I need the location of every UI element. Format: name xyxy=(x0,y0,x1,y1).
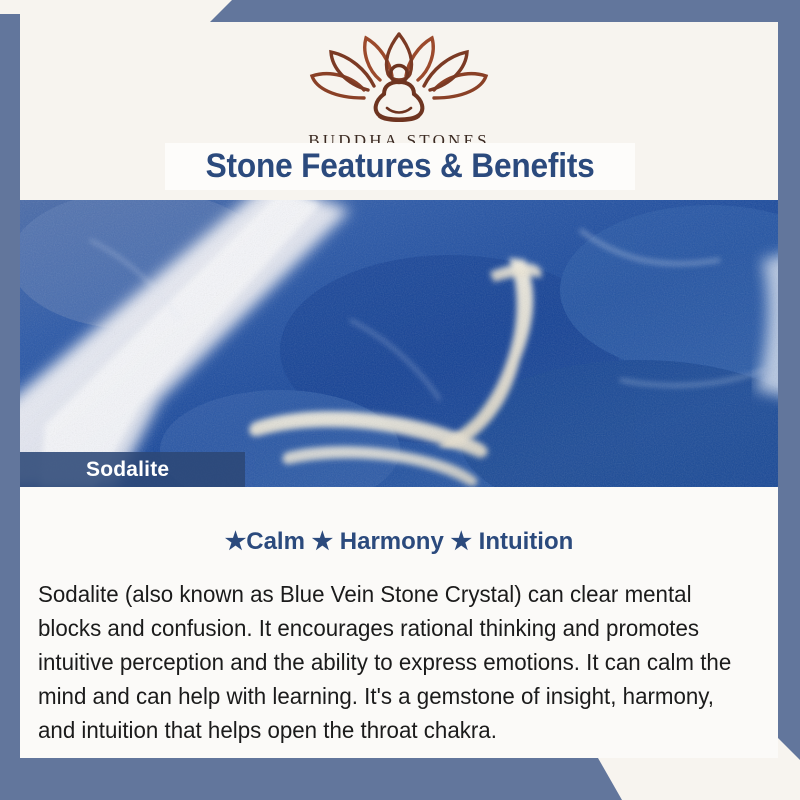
keyword-list: ★Calm ★ Harmony ★ Intuition xyxy=(20,527,778,556)
page-title: Stone Features & Benefits xyxy=(206,147,595,186)
brand-header: BUDDHA STONES Stone Features & Benefits xyxy=(20,22,778,190)
stone-description: Sodalite (also known as Blue Vein Stone … xyxy=(38,577,738,747)
stone-name-badge: Sodalite xyxy=(20,452,245,487)
page-title-box: Stone Features & Benefits xyxy=(165,143,635,190)
stone-name: Sodalite xyxy=(86,458,169,482)
frame-left-accent xyxy=(0,14,20,800)
lotus-meditation-icon xyxy=(20,28,778,129)
poster-root: BUDDHA STONES Stone Features & Benefits xyxy=(0,0,800,800)
frame-top-accent xyxy=(0,0,800,22)
stone-info-section: ★Calm ★ Harmony ★ Intuition Sodalite (al… xyxy=(20,487,778,758)
frame-right-accent xyxy=(778,0,800,760)
frame-bottom-accent xyxy=(0,758,800,800)
page-content: BUDDHA STONES Stone Features & Benefits xyxy=(20,22,778,758)
stone-image: Sodalite xyxy=(20,200,778,487)
brand-logo: BUDDHA STONES xyxy=(20,28,778,151)
